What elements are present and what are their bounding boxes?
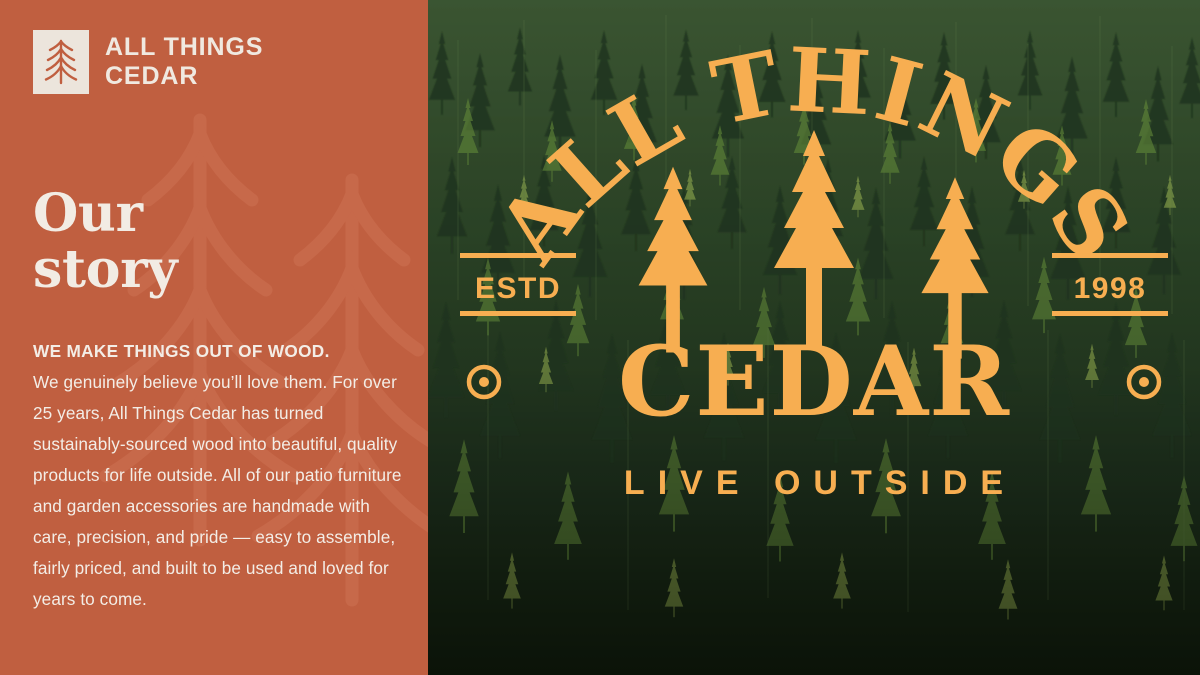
forest-photo-panel: ALL THINGS ESTD 1998 [428,0,1200,675]
about-slide: ALL THINGS CEDAR Our story WE MAKE THING… [0,0,1200,675]
page-title: Our story [33,186,177,298]
story-body: WE MAKE THINGS OUT OF WOOD. We genuinely… [33,336,405,615]
forest-photograph [428,0,1200,675]
story-paragraph: We genuinely believe you’ll love them. F… [33,367,405,615]
left-content-panel: ALL THINGS CEDAR Our story WE MAKE THING… [0,0,428,675]
brand-lockup[interactable]: ALL THINGS CEDAR [33,30,263,94]
logo-tile [33,30,89,94]
story-lead: WE MAKE THINGS OUT OF WOOD. [33,336,405,367]
brand-name: ALL THINGS CEDAR [105,33,263,92]
cedar-tree-icon [44,39,78,85]
